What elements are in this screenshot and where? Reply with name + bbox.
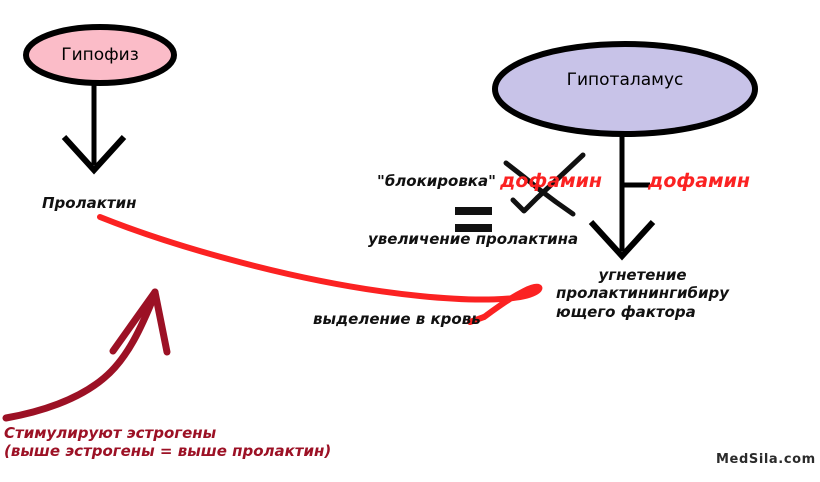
label-blocking-quoted: "блокировка" [377,172,496,190]
label-dopamine-right: дофамин [648,170,750,193]
diagram-canvas: Гипофиз Гипоталамус Пролактин "блокировк… [0,0,820,482]
label-estrogens-line-1: Стимулируют эстрогены [4,424,331,442]
connector-hypothalamus-to-inhibition-arrow [591,133,653,256]
watermark-medsila: MedSila.com [716,452,816,467]
label-inhibition-line-3: ющего фактора [556,303,729,321]
label-inhibition-line-1: угнетение [556,266,729,284]
connector-pituitary-to-prolactin-arrow [64,82,124,170]
equals-sign-glyph [455,207,492,232]
label-inhibition-line-2: пролактинингибиру [556,284,729,302]
label-increase-prolactin: увеличение пролактина [368,230,578,248]
label-estrogens-block: Стимулируют эстрогены (выше эстрогены = … [4,424,331,461]
node-hypothalamus-label: Гипоталамус [495,70,755,90]
label-dopamine-crossed: дофамин [500,170,602,193]
node-pituitary-label: Гипофиз [26,45,174,65]
label-prolactin: Пролактин [42,194,136,212]
label-inhibition-block: угнетение пролактинингибиру ющего фактор… [556,266,729,321]
label-estrogens-line-2: (выше эстрогены = выше пролактин) [4,442,331,460]
label-release-into-blood: выделение в кровь [313,310,481,328]
connector-estrogens-to-prolactin-arrow [6,292,167,418]
